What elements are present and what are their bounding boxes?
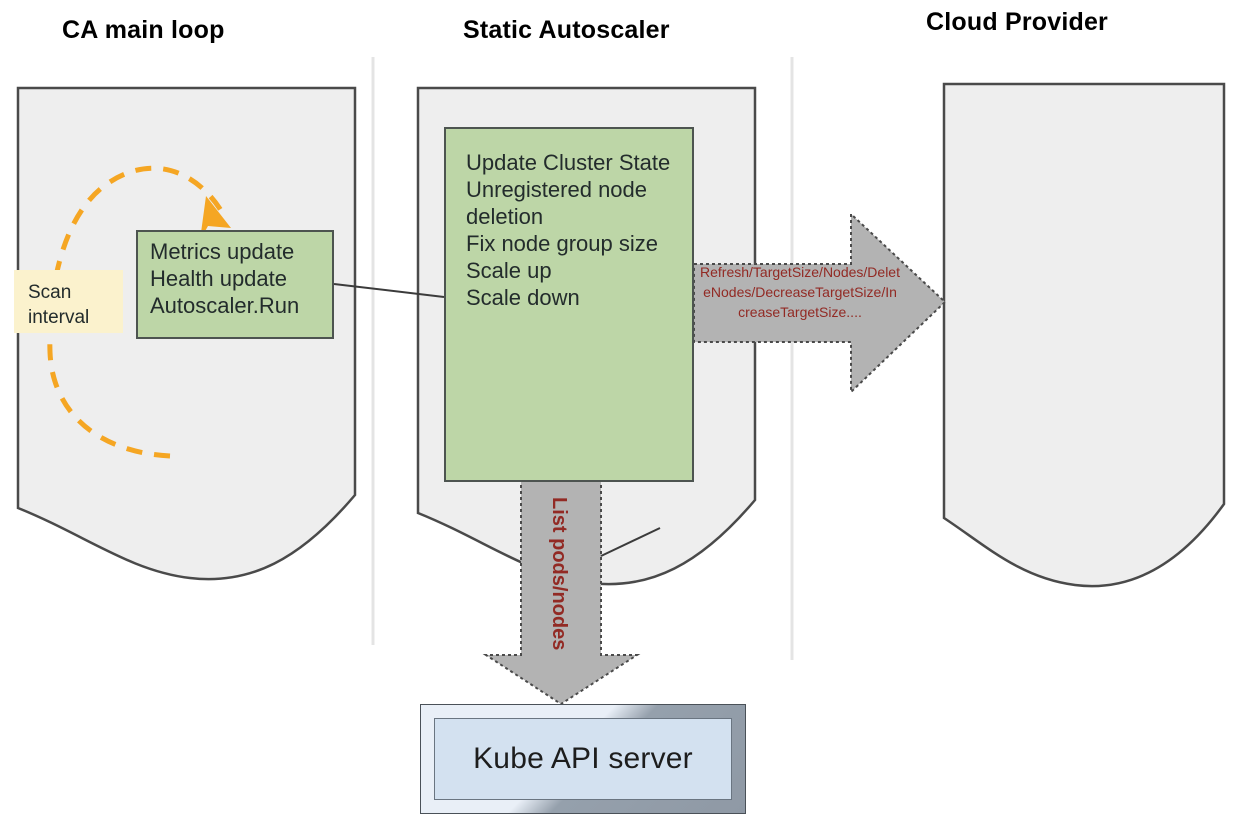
metrics-line-1: Metrics update [150,238,332,265]
lane-title-ca-main-loop: CA main loop [62,16,225,45]
steps-line-5: Scale up [466,257,692,284]
kube-api-server-inner: Kube API server [434,718,732,800]
connector-metrics-to-steps [334,284,444,297]
steps-line-2: Unregistered node [466,176,692,203]
autoscaler-steps-box: Update Cluster State Unregistered node d… [444,127,694,482]
kube-api-server-label: Kube API server [473,742,693,776]
scan-interval-line-2: interval [28,305,123,330]
connector-steps-to-api [601,528,660,556]
metrics-line-3: Autoscaler.Run [150,292,332,319]
metrics-line-2: Health update [150,265,332,292]
lane-title-cloud-provider: Cloud Provider [926,8,1108,37]
steps-line-6: Scale down [466,284,692,311]
kube-api-server-box: Kube API server [420,704,746,814]
metrics-update-box: Metrics update Health update Autoscaler.… [136,230,334,339]
diagram-canvas: CA main loop Static Autoscaler Cloud Pro… [0,0,1240,838]
lane-shape-cloud-provider [944,84,1224,586]
steps-line-4: Fix node group size [466,230,692,257]
scan-interval-note: Scan interval [14,270,123,333]
cloud-provider-call-label: Refresh/TargetSize/Nodes/DeleteNodes/Dec… [700,262,900,322]
api-server-call-label: List pods/nodes [547,497,570,657]
lane-title-static-autoscaler: Static Autoscaler [463,16,670,45]
scan-interval-line-1: Scan [28,280,123,305]
steps-line-1: Update Cluster State [466,149,692,176]
steps-line-3: deletion [466,203,692,230]
